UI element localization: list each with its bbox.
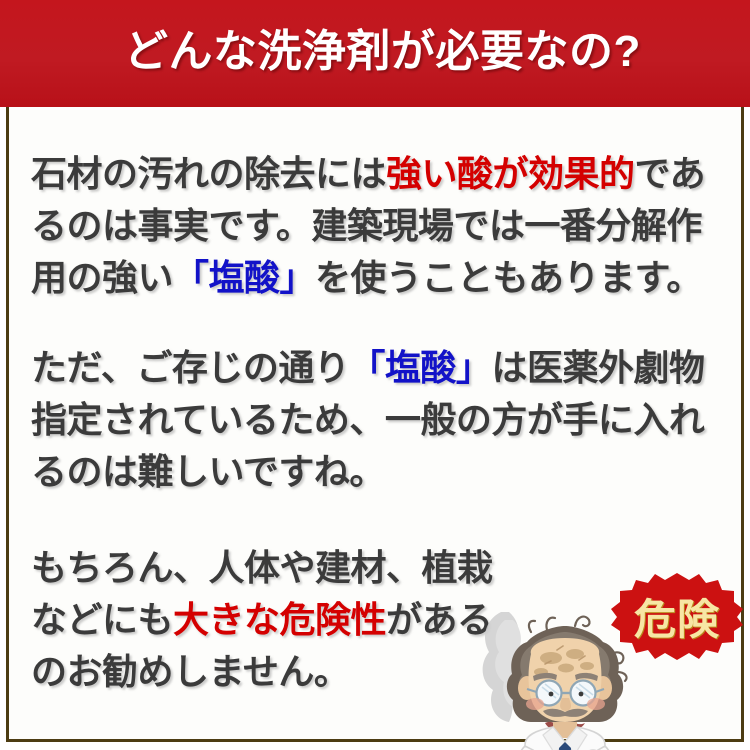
paragraph-3-segment-1: 大きな危険性: [173, 599, 386, 640]
danger-badge: 危険: [610, 571, 744, 661]
poster: どんな洗浄剤が必要なの? 石材の汚れの除去には強い酸が効果的であるのは事実です。…: [0, 0, 750, 750]
paragraph-1-segment-4: を使うこともあります。: [315, 257, 702, 298]
page-title: どんな洗浄剤が必要なの?: [124, 23, 641, 81]
paragraph-3: もちろん、人体や建材、植栽などにも大きな危険性があるのお勧めしません。: [31, 542, 501, 698]
paragraph-1-segment-1: 強い酸が効果的: [386, 153, 635, 194]
paragraph-1-segment-3: 「塩酸」: [173, 257, 315, 298]
content-area: 石材の汚れの除去には強い酸が効果的であるのは事実です。建築現場では一番分解作用の…: [9, 110, 741, 739]
paragraph-2: ただ、ご存じの通り「塩酸」は医薬外劇物指定されているため、一般の方が手に入れるの…: [31, 342, 731, 498]
paragraph-1-segment-0: 石材の汚れの除去には: [31, 153, 386, 194]
paragraph-2-segment-0: ただ、ご存じの通り: [31, 347, 349, 388]
danger-badge-label: 危険: [610, 571, 744, 661]
paragraph-1: 石材の汚れの除去には強い酸が効果的であるのは事実です。建築現場では一番分解作用の…: [31, 148, 731, 304]
header-band: どんな洗浄剤が必要なの?: [0, 0, 750, 107]
paragraph-2-segment-1: 「塩酸」: [349, 347, 491, 388]
